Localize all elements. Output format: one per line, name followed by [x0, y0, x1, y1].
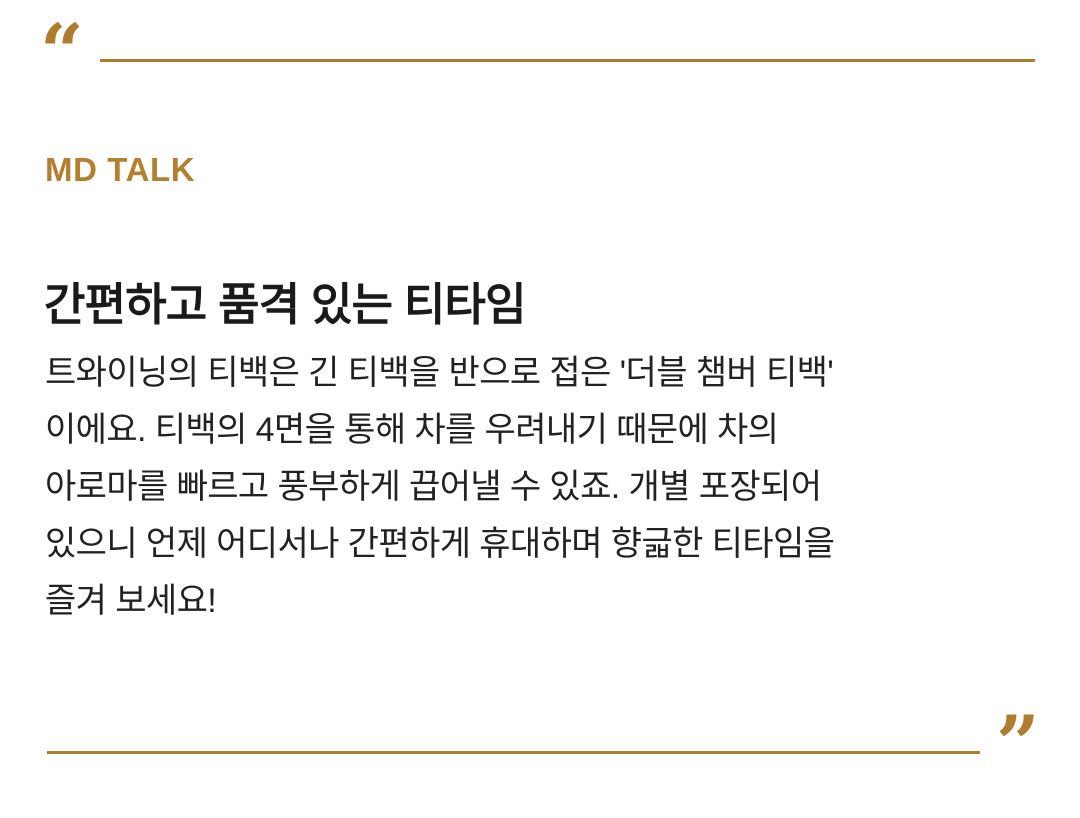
- body-line: 아로마를 빠르고 풍부하게 끕어낼 수 있죠. 개별 포장되어: [45, 459, 1045, 516]
- md-talk-card: “ MD TALK 간편하고 품격 있는 티타임 트와이닝의 티백은 긴 티백을…: [0, 0, 1080, 818]
- top-divider-rule: [100, 59, 1035, 62]
- body-line: 있으니 언제 어디서나 간편하게 휴대하며 향긃한 티타임을: [45, 516, 1045, 573]
- section-eyebrow-label: MD TALK: [45, 150, 195, 190]
- page-title: 간편하고 품격 있는 티타임: [44, 278, 526, 332]
- closing-quotation-mark-icon: ”: [996, 706, 1038, 782]
- body-copy: 트와이닝의 티백은 긴 티백을 반으로 접은 '더블 챔버 티백' 이에요. 티…: [45, 345, 1045, 630]
- opening-quotation-mark-icon: “: [40, 14, 82, 90]
- body-line: 이에요. 티백의 4면을 통해 차를 우려내기 때문에 차의: [45, 402, 1045, 459]
- body-line: 트와이닝의 티백은 긴 티백을 반으로 접은 '더블 챔버 티백': [45, 345, 1045, 402]
- body-line: 즐겨 보세요!: [45, 573, 1045, 630]
- bottom-divider-rule: [47, 751, 980, 754]
